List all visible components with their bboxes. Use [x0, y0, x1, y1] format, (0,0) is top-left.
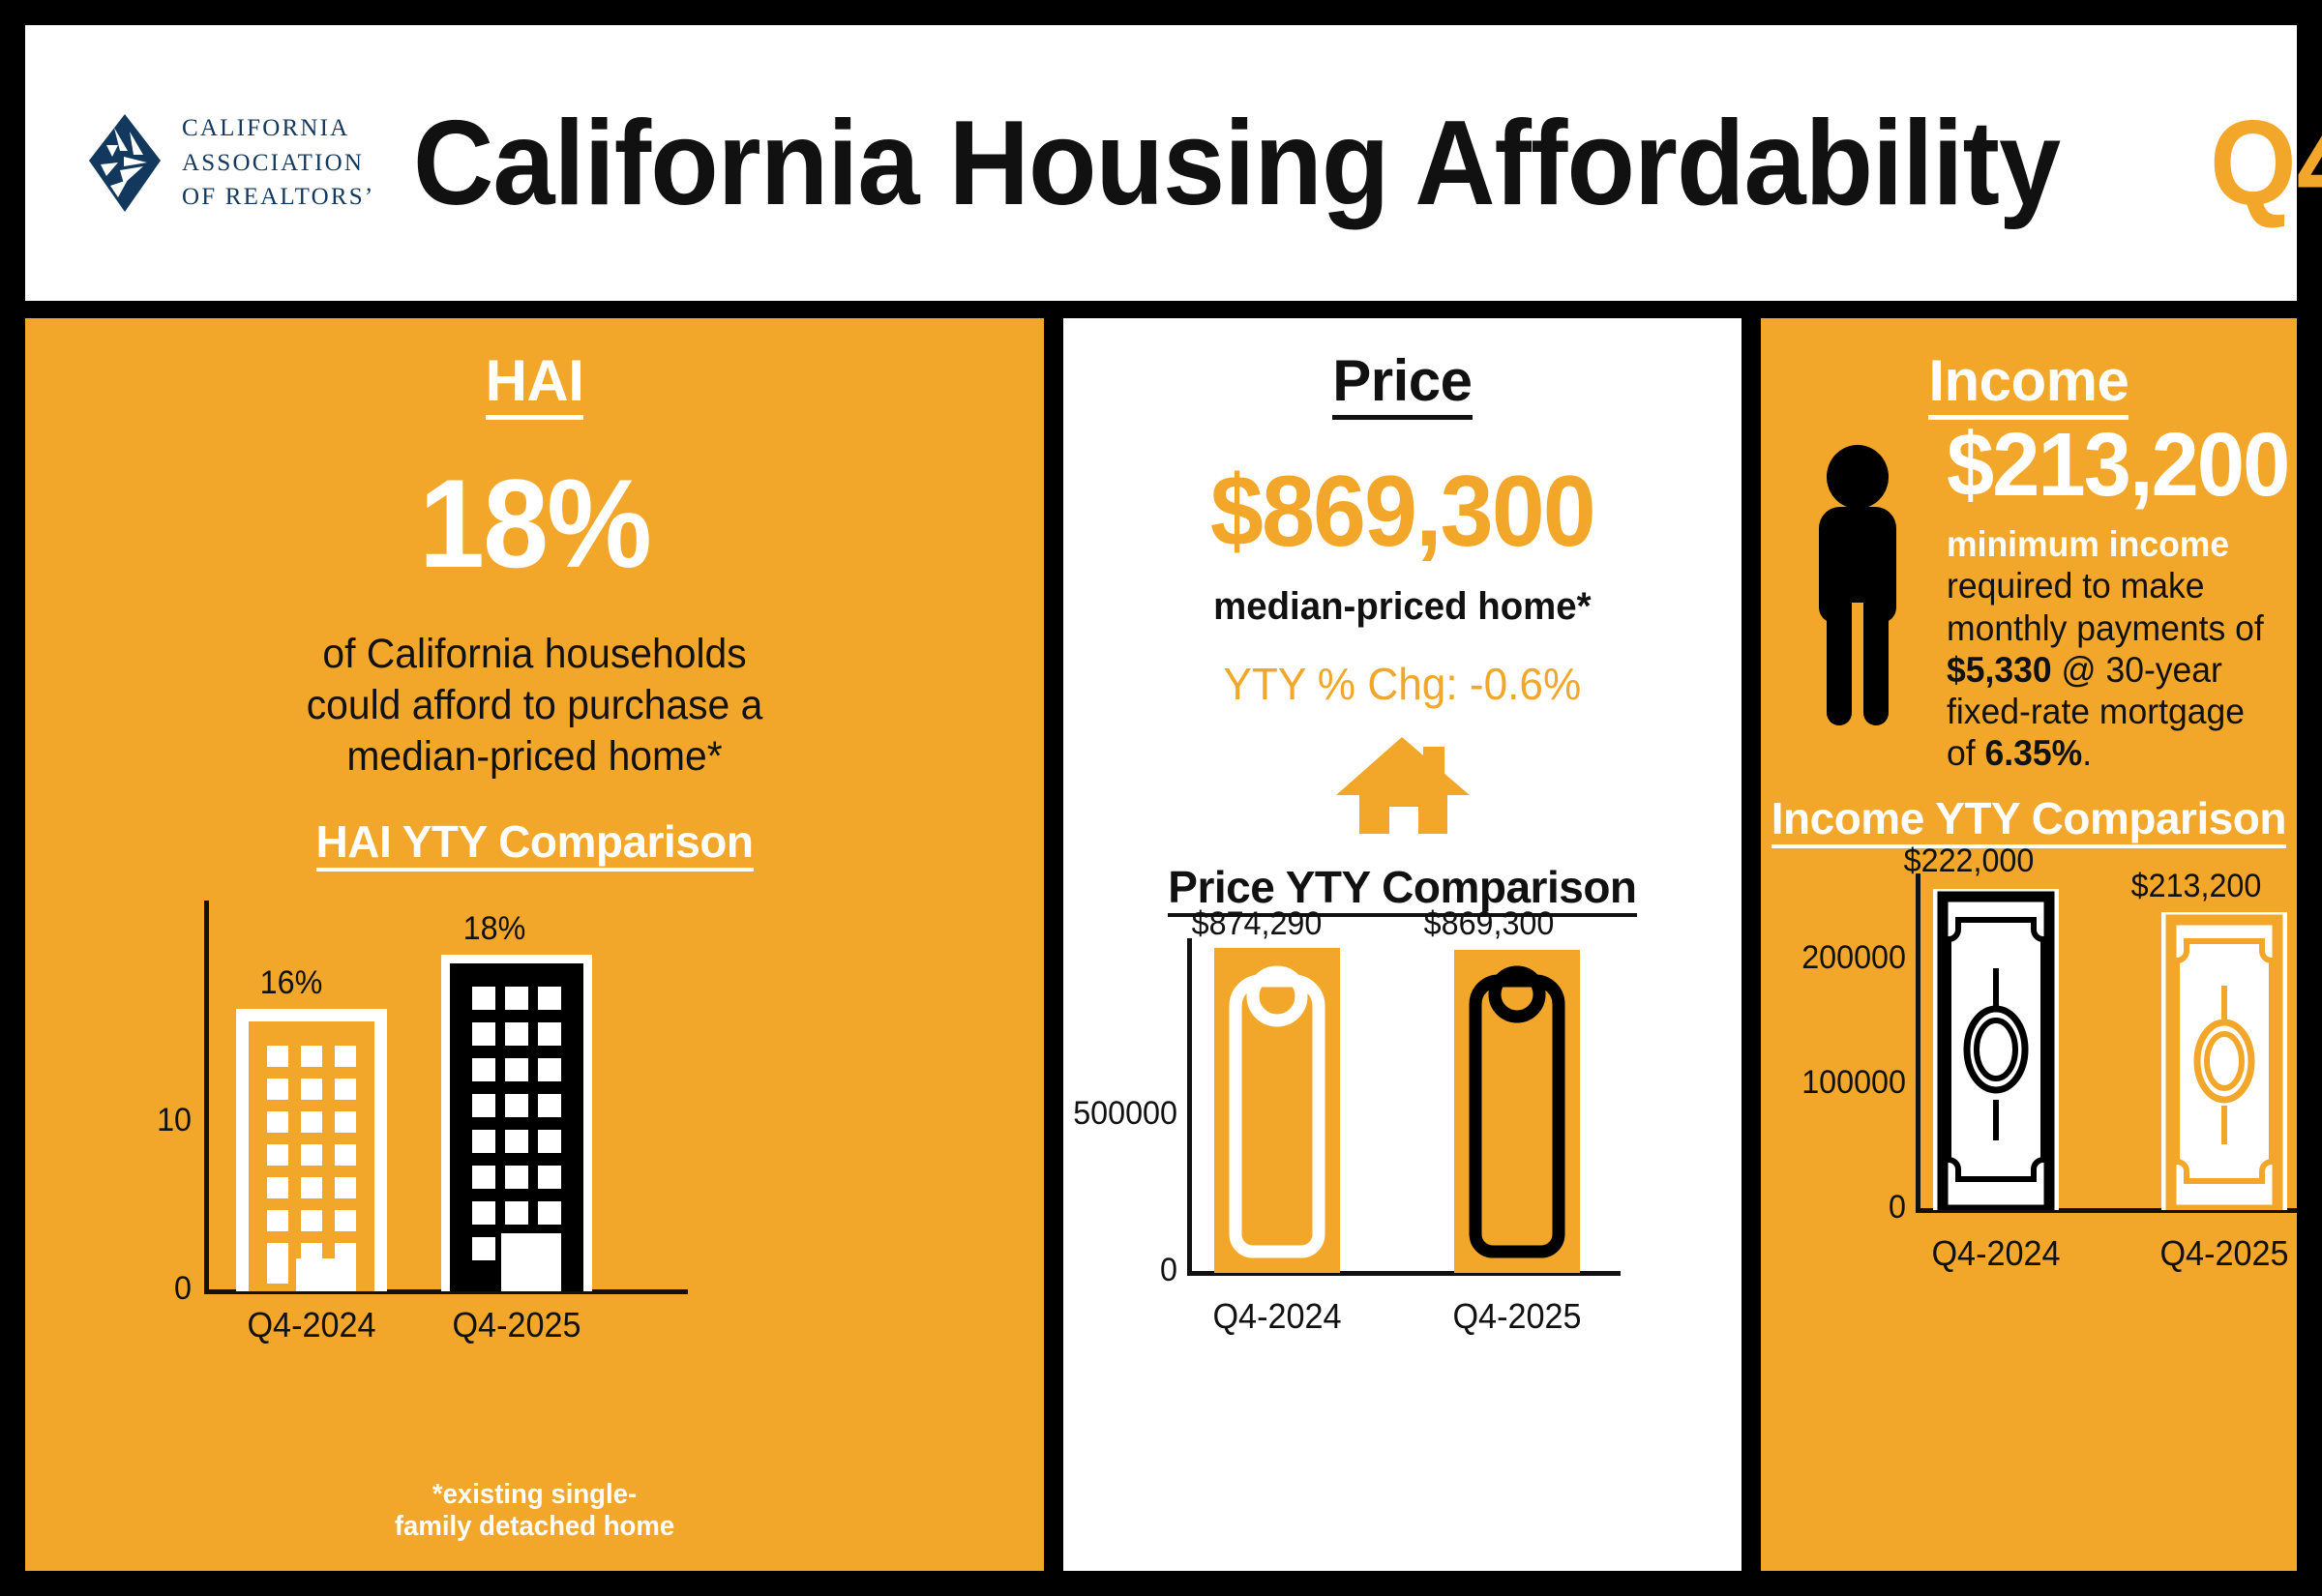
hai-chart-title-text: HAI YTY Comparison — [316, 816, 754, 872]
hai-bar-1 — [441, 955, 592, 1291]
income-desc-line-2: required to make — [1947, 566, 2205, 606]
income-ytick-0: 0 — [1768, 1189, 1906, 1227]
logo-line-1: California — [182, 111, 374, 146]
price-cat-label-0: Q4-2024 — [1148, 1296, 1406, 1337]
income-desc-payment: $5,330 — [1947, 650, 2052, 690]
infographic-page: California Association of Realtors’ Cali… — [0, 0, 2322, 1596]
person-icon — [1809, 445, 1933, 735]
panel-price-heading: Price — [1063, 318, 1741, 414]
price-cat-label-1: Q4-2025 — [1388, 1296, 1646, 1337]
car-logo-text: California Association of Realtors’ — [182, 111, 374, 215]
hai-big-value: 18% — [56, 451, 1014, 596]
hai-y-axis — [204, 901, 209, 1292]
price-yty-change: YTY % Chg: -0.6% — [1077, 658, 1728, 710]
income-chart-title: Income YTY Comparison — [1761, 792, 2297, 844]
income-bar-1 — [2161, 912, 2287, 1210]
page-title-main: California Housing Affordability — [413, 95, 2060, 232]
price-subtitle: median-priced home* — [1077, 585, 1728, 629]
income-desc-rate: 6.35% — [1984, 733, 2082, 773]
income-bar-value-0: $222,000 — [1840, 842, 2098, 880]
price-ytick-0: 0 — [1063, 1252, 1177, 1289]
hai-ytick-0: 0 — [89, 1270, 192, 1308]
panel-income-heading: Income — [1761, 318, 2297, 414]
income-cat-label-0: Q4-2024 — [1867, 1233, 2125, 1274]
hai-cat-label-1: Q4-2025 — [406, 1305, 627, 1345]
panel-price: Price $869,300 median-priced home* YTY %… — [1063, 318, 1741, 1571]
hai-ytick-10: 10 — [89, 1102, 192, 1139]
price-bar-0 — [1214, 948, 1340, 1273]
hai-footnote: *existing single- family detached home — [50, 1479, 1018, 1542]
logo-line-2: Association — [182, 146, 374, 181]
income-desc-line-3: monthly payments of — [1947, 608, 2264, 648]
income-bar-0 — [1933, 889, 2059, 1210]
price-bar-1 — [1454, 950, 1580, 1273]
income-ytick-100000: 100000 — [1768, 1064, 1906, 1102]
page-title: California Housing Affordability Q4 2025 — [413, 95, 2322, 232]
income-bar-value-1: $213,200 — [2068, 868, 2297, 905]
car-logo-mark — [85, 112, 164, 214]
panels-row: HAI 18% of California householdscould af… — [25, 318, 2297, 1571]
page-header: California Association of Realtors’ Cali… — [25, 25, 2297, 301]
hai-bar-value-0: 16% — [181, 964, 402, 1002]
income-cat-label-1: Q4-2025 — [2096, 1233, 2297, 1274]
price-ytick-500000: 500000 — [1063, 1095, 1177, 1133]
income-ytick-200000: 200000 — [1768, 939, 1906, 977]
income-big-value: $213,200 — [1947, 420, 2288, 510]
income-description: minimum income required to make monthly … — [1947, 523, 2292, 775]
car-logo: California Association of Realtors’ — [85, 111, 374, 215]
hai-footnote-line-2: family detached home — [50, 1511, 1018, 1542]
hai-footnote-line-1: *existing single- — [50, 1479, 1018, 1510]
hai-chart: 0 10 16% — [25, 891, 1044, 1316]
price-bar-value-0: $874,290 — [1128, 905, 1385, 943]
income-chart-title-text: Income YTY Comparison — [1771, 793, 2286, 848]
hai-bar-0 — [236, 1009, 387, 1291]
income-desc-line-6-pre: of — [1947, 733, 1984, 773]
income-y-axis — [1916, 873, 1920, 1212]
panel-hai-heading-text: HAI — [486, 348, 584, 420]
house-icon — [1333, 735, 1471, 836]
logo-line-3: of Realtors’ — [182, 180, 374, 215]
income-desc-line-6-post: . — [2082, 733, 2092, 773]
panel-income-heading-text: Income — [1928, 348, 2128, 420]
income-text-block: $213,200 minimum income required to make… — [1947, 420, 2297, 775]
income-chart: 0 100000 200000 $222,000 $213,200 — [1761, 862, 2297, 1278]
hai-cat-label-0: Q4-2024 — [201, 1305, 422, 1345]
panel-hai: HAI 18% of California householdscould af… — [25, 318, 1044, 1571]
page-title-quarter: Q4 2025 — [2210, 95, 2322, 232]
hai-chart-title: HAI YTY Comparison — [25, 815, 1044, 868]
price-big-value: $869,300 — [1081, 455, 1725, 570]
price-chart: 0 500000 $874,290 $869,300 Q4-2024 Q4 — [1063, 927, 1741, 1343]
panel-income: Income $213,200 minimum income required … — [1761, 318, 2297, 1571]
hai-bar-value-1: 18% — [384, 910, 605, 948]
hai-description: of California householdscould afford to … — [50, 629, 1018, 783]
panel-price-heading-text: Price — [1332, 348, 1472, 420]
price-y-axis — [1187, 938, 1192, 1275]
price-bar-value-1: $869,300 — [1360, 905, 1618, 943]
income-summary-row: $213,200 minimum income required to make… — [1761, 414, 2297, 775]
panel-hai-heading: HAI — [25, 318, 1044, 414]
income-desc-line-4: @ 30-year — [2051, 650, 2221, 690]
income-desc-line-5: fixed-rate mortgage — [1947, 692, 2245, 731]
income-desc-bold-white: minimum income — [1947, 524, 2229, 564]
